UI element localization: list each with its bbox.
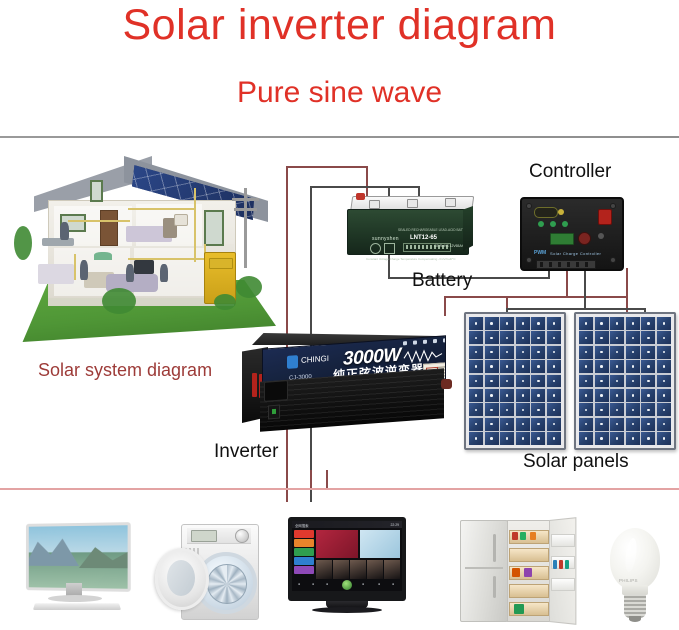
wire-controller-pv-pos [566, 267, 568, 297]
person-living [126, 264, 134, 282]
tv-home-button[interactable] [342, 580, 352, 590]
controller-caption: Solar Charge Controller [550, 251, 601, 256]
fridge-bottle-2 [559, 560, 563, 569]
desk [42, 238, 74, 246]
status-led-amber [558, 209, 564, 215]
house-wire-5 [74, 254, 76, 280]
house-wire-4 [128, 258, 206, 260]
controller-knob [578, 232, 591, 245]
fridge-door-shelf-1 [551, 534, 575, 547]
door-interior [100, 210, 118, 246]
solar-system-illustration [8, 148, 280, 353]
controller-logo: PWM [534, 250, 546, 256]
fridge-shelf-2 [509, 548, 549, 562]
tv-category-tiles[interactable] [294, 530, 314, 574]
controller-power-button[interactable] [598, 209, 612, 225]
keyboard-icon [33, 603, 121, 610]
battery-case: SEALED RECHARGEABLE LEAD-ACID BATTERY su… [347, 209, 469, 255]
status-led-green-2 [550, 221, 556, 227]
washer-open-door[interactable] [155, 548, 209, 610]
battery-footer-text: Constant Voltage Charge Temperature Comp… [366, 257, 456, 261]
tv-status-bar: 全网搜索 22:29 [292, 521, 402, 528]
monitor-screen [26, 522, 131, 592]
inverter-power-switch[interactable] [268, 405, 280, 420]
utility-pole-arm [232, 198, 259, 201]
shrub-right-2 [214, 294, 236, 310]
wire-output-left [310, 470, 312, 488]
controller-terminal-strip [536, 260, 596, 269]
person-office [60, 222, 69, 240]
panel-1-cell-grid [469, 317, 561, 445]
status-led-green-3 [562, 221, 568, 227]
status-led-green [538, 221, 544, 227]
pendant-lamp [94, 252, 112, 260]
appliance-divider [0, 488, 679, 490]
fridge-bottle-1 [553, 560, 557, 569]
tv-screen: 全网搜索 22:29 ●● ●● ●● [292, 521, 402, 591]
tv-base [312, 607, 382, 613]
person-living-2 [160, 264, 168, 282]
wire-pv-neg-bus [506, 308, 646, 310]
battery-model: LNT12-65 [410, 235, 437, 241]
fridge-item-2 [520, 532, 526, 540]
fridge-shelf-4 [509, 584, 549, 598]
label-battery: Battery [412, 271, 472, 290]
page-subtitle: Pure sine wave [0, 78, 679, 108]
window-side [204, 210, 224, 246]
tv-feature-tile-1[interactable] [316, 530, 358, 558]
tv-thumbnail-row[interactable] [316, 560, 400, 579]
header-divider [0, 136, 679, 138]
battery-terminal-3 [445, 198, 456, 207]
fridge-handle-upper[interactable] [493, 534, 496, 562]
wire-battery-pos-drop [366, 166, 368, 198]
monitor-icon [18, 521, 130, 617]
label-solar-system-diagram: Solar system diagram [38, 361, 212, 379]
tv-icon: 全网搜索 22:29 ●● ●● ●● [288, 517, 406, 619]
washer-dial[interactable] [235, 529, 249, 543]
bulb-screw-base [624, 594, 646, 618]
battery-unit: SEALED RECHARGEABLE LEAD-ACID BATTERY su… [345, 196, 475, 258]
battery-recycle-icon [370, 243, 381, 254]
fridge-handle-lower[interactable] [493, 576, 496, 598]
controller-terminal-block [550, 233, 574, 245]
picture-frame [174, 214, 188, 226]
shrub-right [236, 276, 262, 298]
tv-feature-tile-2[interactable] [360, 530, 400, 558]
wire-battery-pos-top [286, 166, 368, 168]
inverter-brand-mark [287, 355, 298, 369]
fridge-item-4 [512, 568, 520, 577]
tv-clock: 22:29 [391, 523, 400, 527]
washer-display [191, 530, 217, 542]
screw-icon-tr [610, 203, 616, 209]
wire-output-right [326, 470, 328, 488]
shrub-front [102, 288, 136, 314]
house-wire-3 [194, 188, 196, 262]
wire-pv2-pos-bus [566, 296, 626, 298]
battery-terminal-1 [369, 200, 380, 209]
bulb-contact-tip [629, 616, 641, 622]
battery-warning-icon [384, 243, 395, 254]
tv-in-house [134, 260, 154, 274]
battery-side-face [463, 206, 473, 251]
fridge-item-6 [514, 604, 524, 614]
utility-pole-arm-2 [234, 208, 257, 211]
tv-status-text: 全网搜索 [295, 523, 309, 528]
battery-spec-text: SEALED RECHARGEABLE LEAD-ACID BATTERY [398, 228, 471, 232]
fridge-item-1 [512, 532, 518, 540]
light-bulb-icon: PHILIPS [600, 528, 670, 624]
shrub-left [14, 226, 32, 260]
inverter-unit: CHINGI 3000W 纯正弦波逆变器 DC to AC power inve… [238, 333, 450, 437]
controller-display-window [534, 207, 558, 218]
washing-machine-icon [155, 518, 265, 620]
fridge-item-5 [524, 568, 532, 577]
refrigerator-icon [460, 520, 576, 620]
house-wire-1 [68, 220, 130, 222]
monitor-base [48, 595, 102, 602]
label-inverter: Inverter [214, 442, 278, 461]
battery-positive-terminal [356, 193, 365, 200]
person-dining [80, 260, 88, 280]
page-title: Solar inverter diagram [0, 4, 679, 47]
wire-pv-neg-trunk [584, 267, 586, 309]
tv-bezel: 全网搜索 22:29 ●● ●● ●● [288, 517, 406, 601]
controller-indicator [598, 233, 604, 239]
counter [38, 264, 74, 284]
screw-icon-tl [526, 203, 532, 209]
bulb-brand: PHILIPS [619, 578, 638, 583]
fridge-door-shelf-3 [551, 578, 575, 591]
wire-battery-neg-top [310, 186, 420, 188]
inverter-ac-outlet[interactable] [264, 380, 288, 402]
battery-brand: sunnyshen [372, 236, 399, 242]
fridge-item-3 [530, 532, 536, 540]
washer-drum [207, 564, 247, 604]
charge-controller-unit: PWM Solar Charge Controller [520, 197, 624, 271]
battery-terminal-2 [407, 199, 418, 208]
inverter-brand: CHINGI [301, 354, 329, 365]
battery-cert-text: CE RoHS 12V65Ah [434, 244, 464, 248]
inverter-rear-knob [441, 379, 452, 389]
fridge-closed-section [460, 520, 508, 622]
house-wire-2 [128, 208, 196, 210]
wire-pv1-pos-drop [444, 296, 446, 316]
fridge-bottle-3 [565, 560, 569, 569]
solar-panel-1 [464, 312, 566, 450]
solar-panel-2 [574, 312, 676, 450]
screw-icon-bl [526, 257, 532, 263]
wallpaper-mountain-1 [26, 536, 79, 566]
terminal-positive [252, 373, 257, 397]
label-solar-panels: Solar panels [523, 452, 629, 471]
wallpaper-mountain-2 [79, 542, 131, 569]
screw-icon-br [610, 257, 616, 263]
window-attic [90, 180, 103, 202]
label-controller: Controller [529, 162, 611, 181]
panel-2-cell-grid [579, 317, 671, 445]
